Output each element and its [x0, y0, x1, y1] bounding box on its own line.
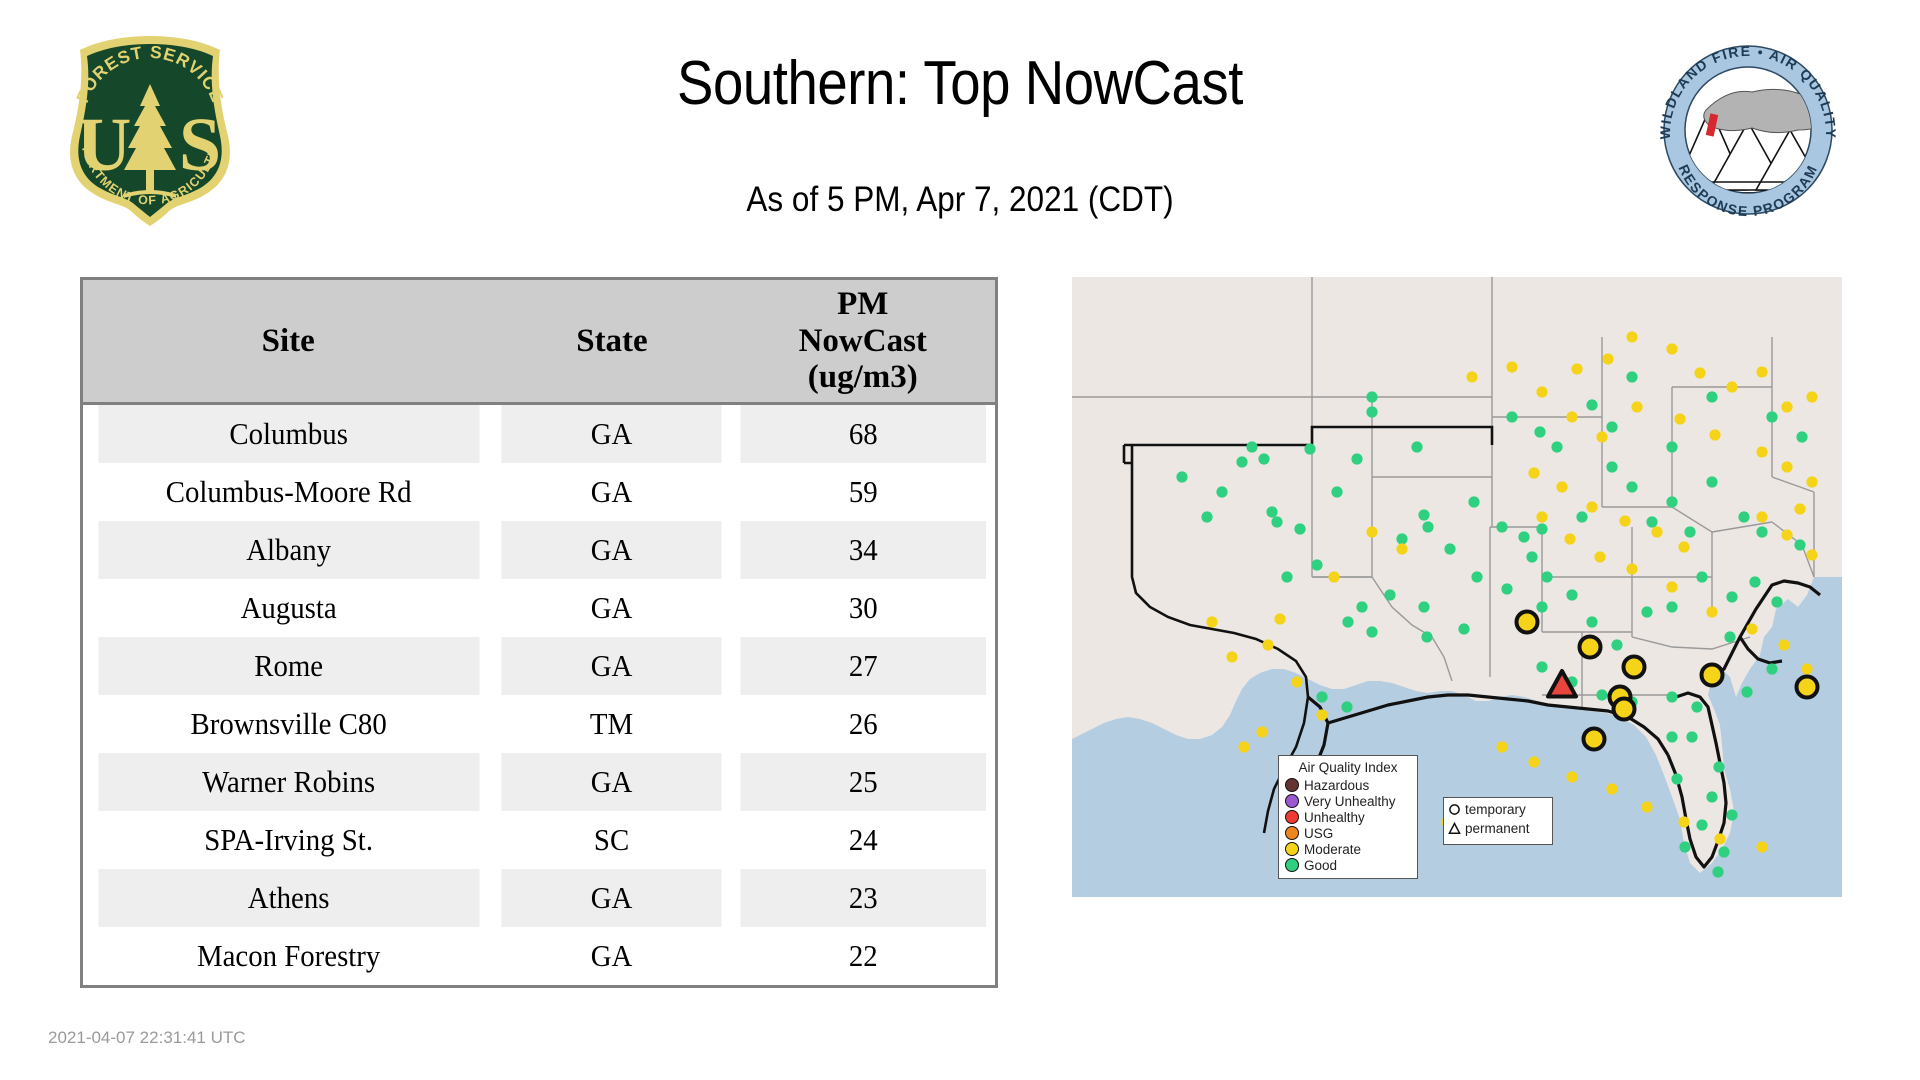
map-marker-dot [1666, 731, 1677, 742]
map-marker-dot [1766, 663, 1777, 674]
cell-site: Augusta [96, 579, 479, 637]
map-marker-dot [1706, 476, 1717, 487]
table-row: Macon ForestryGA22 [82, 927, 997, 987]
map-marker-dot [1291, 676, 1302, 687]
legend-row-temporary: temporary [1448, 800, 1548, 819]
legend-swatch-icon [1285, 842, 1299, 856]
map-marker-dot [1422, 521, 1433, 532]
map-marker-dot [1266, 506, 1277, 517]
map-marker-dot [1384, 589, 1395, 600]
map-marker-dot [1694, 367, 1705, 378]
legend-label: Unhealthy [1304, 810, 1365, 825]
cell-site: Macon Forestry [96, 927, 479, 987]
map-marker-dot [1496, 741, 1507, 752]
map-marker-dot [1536, 511, 1547, 522]
map-marker-dot [1506, 361, 1517, 372]
map-marker-dot [1216, 486, 1227, 497]
map-marker-dot [1781, 461, 1792, 472]
map-marker-dot [1256, 726, 1267, 737]
map-marker-dot [1713, 761, 1724, 772]
map-marker-highlighted[interactable] [1584, 729, 1605, 750]
map-marker-dot [1466, 371, 1477, 382]
map-marker-dot [1724, 631, 1735, 642]
map-marker-dot [1556, 481, 1567, 492]
legend-swatch-icon [1285, 858, 1299, 872]
map-marker-dot [1686, 731, 1697, 742]
map-marker-dot [1342, 616, 1353, 627]
map-marker-dot [1641, 801, 1652, 812]
map-marker-dot [1746, 623, 1757, 634]
legend-row-permanent: permanent [1448, 819, 1548, 838]
map-marker-dot [1781, 401, 1792, 412]
map-marker-dot [1696, 819, 1707, 830]
map-marker-highlighted[interactable] [1580, 637, 1601, 658]
map-marker-dot [1666, 343, 1677, 354]
cell-state: GA [502, 753, 723, 811]
map-marker-dot [1606, 421, 1617, 432]
legend-label: Very Unhealthy [1304, 794, 1396, 809]
table-row: Brownsville C80TM26 [82, 695, 997, 753]
map-marker-dot [1316, 691, 1327, 702]
map-marker-dot [1674, 413, 1685, 424]
legend-label-temporary: temporary [1465, 802, 1526, 817]
map-marker-dot [1281, 571, 1292, 582]
legend-row-very-unhealthy: Very Unhealthy [1285, 793, 1411, 809]
map-marker-dot [1418, 601, 1429, 612]
column-header-line-1: PM [837, 286, 888, 322]
map-marker-dot [1551, 441, 1562, 452]
map-marker-dot [1328, 571, 1339, 582]
legend-row-unhealthy: Unhealthy [1285, 809, 1411, 825]
map-marker-highlighted[interactable] [1517, 612, 1538, 633]
table-row: Columbus-Moore RdGA59 [82, 463, 997, 521]
map-marker-dot [1631, 401, 1642, 412]
map-marker-dot [1666, 691, 1677, 702]
map-marker-dot [1418, 509, 1429, 520]
map-marker-dot [1458, 623, 1469, 634]
map-marker-dot [1596, 431, 1607, 442]
map-marker-dot [1586, 399, 1597, 410]
map-marker-dot [1206, 616, 1217, 627]
cell-pm-nowcast: 26 [740, 695, 987, 753]
marker-type-legend: temporary permanent [1443, 797, 1553, 845]
map-marker-dot [1678, 816, 1689, 827]
map-marker-dot [1351, 453, 1362, 464]
top-nowcast-table: Site State PM NowCast (ug/m3) ColumbusGA… [80, 277, 998, 988]
cell-site: Warner Robins [96, 753, 479, 811]
legend-title: Air Quality Index [1285, 760, 1411, 775]
map-marker-dot [1666, 441, 1677, 452]
cell-pm-nowcast: 59 [740, 463, 987, 521]
map-marker-dot [1709, 429, 1720, 440]
cell-state: TM [502, 695, 723, 753]
map-marker-dot [1666, 581, 1677, 592]
map-marker-dot [1501, 583, 1512, 594]
map-marker-dot [1606, 461, 1617, 472]
table-row: AlbanyGA34 [82, 521, 997, 579]
map-marker-dot [1506, 411, 1517, 422]
map-marker-dot [1176, 471, 1187, 482]
map-marker-dot [1541, 571, 1552, 582]
map-marker-dot [1331, 486, 1342, 497]
map-marker-dot [1696, 571, 1707, 582]
map-marker-dot [1528, 467, 1539, 478]
map-marker-dot [1341, 701, 1352, 712]
cell-pm-nowcast: 22 [740, 927, 987, 987]
cell-state: GA [502, 463, 723, 521]
map-marker-highlighted[interactable] [1614, 699, 1635, 720]
map-marker-dot [1726, 809, 1737, 820]
footer-timestamp: 2021-04-07 22:31:41 UTC [48, 1028, 246, 1048]
map-marker-dot [1756, 366, 1767, 377]
legend-label: Moderate [1304, 842, 1361, 857]
map-marker-dot [1646, 516, 1657, 527]
legend-label-permanent: permanent [1465, 821, 1530, 836]
cell-pm-nowcast: 24 [740, 811, 987, 869]
cell-state: GA [502, 404, 723, 464]
map-marker-dot [1712, 866, 1723, 877]
map-marker-dot [1678, 541, 1689, 552]
table-body: ColumbusGA68Columbus-Moore RdGA59AlbanyG… [82, 404, 997, 987]
map-marker-dot [1806, 549, 1817, 560]
cell-state: GA [502, 521, 723, 579]
map-marker-dot [1766, 411, 1777, 422]
legend-row-hazardous: Hazardous [1285, 777, 1411, 793]
map-marker-dot [1626, 331, 1637, 342]
map-marker-dot [1706, 791, 1717, 802]
map-marker-dot [1606, 783, 1617, 794]
map-marker-dot [1749, 576, 1760, 587]
map-marker-dot [1396, 533, 1407, 544]
map-marker-dot [1366, 406, 1377, 417]
map-marker-dot [1679, 841, 1690, 852]
legend-swatch-icon [1285, 778, 1299, 792]
map-marker-dot [1258, 453, 1269, 464]
map-marker-dot [1666, 601, 1677, 612]
map-marker-dot [1666, 496, 1677, 507]
map-marker-dot [1726, 591, 1737, 602]
map-marker-dot [1536, 601, 1547, 612]
map-marker-dot [1586, 501, 1597, 512]
map-marker-dot [1641, 606, 1652, 617]
map-marker-dot [1496, 521, 1507, 532]
map-marker-dot [1226, 651, 1237, 662]
legend-row-usg: USG [1285, 825, 1411, 841]
map-marker-dot [1566, 771, 1577, 782]
map-marker-dot [1684, 526, 1695, 537]
table-row: ColumbusGA68 [82, 404, 997, 464]
map-marker-dot [1536, 386, 1547, 397]
map-marker-dot [1756, 526, 1767, 537]
cell-site: SPA-Irving St. [96, 811, 479, 869]
page-subtitle: As of 5 PM, Apr 7, 2021 (CDT) [96, 180, 1824, 220]
table-row: RomeGA27 [82, 637, 997, 695]
cell-site: Athens [96, 869, 479, 927]
map-marker-dot [1626, 371, 1637, 382]
map-marker-dot [1238, 741, 1249, 752]
table-row: AthensGA23 [82, 869, 997, 927]
cell-site: Brownsville C80 [96, 695, 479, 753]
map-marker-dot [1471, 571, 1482, 582]
map-marker-dot [1741, 686, 1752, 697]
legend-label: Good [1304, 858, 1337, 873]
map-marker-highlighted[interactable] [1702, 665, 1723, 686]
map-marker-dot [1801, 663, 1812, 674]
map-marker-dot [1626, 563, 1637, 574]
column-header-site: Site [82, 279, 494, 404]
map-marker-dot [1602, 353, 1613, 364]
cell-pm-nowcast: 23 [740, 869, 987, 927]
cell-state: SC [502, 811, 723, 869]
map-marker-dot [1411, 441, 1422, 452]
map-marker-dot [1311, 559, 1322, 570]
cell-state: GA [502, 869, 723, 927]
map-marker-dot [1594, 551, 1605, 562]
map-marker-dot [1236, 456, 1247, 467]
map-marker-dot [1316, 709, 1327, 720]
cell-pm-nowcast: 68 [740, 404, 987, 464]
map-marker-dot [1756, 511, 1767, 522]
map-marker-dot [1304, 443, 1315, 454]
map-marker-dot [1778, 639, 1789, 650]
cell-pm-nowcast: 27 [740, 637, 987, 695]
map-marker-dot [1718, 846, 1729, 857]
map-marker-dot [1596, 689, 1607, 700]
map-marker-dot [1756, 841, 1767, 852]
table-row: SPA-Irving St.SC24 [82, 811, 997, 869]
cell-site: Rome [96, 637, 479, 695]
map-marker-dot [1566, 411, 1577, 422]
map-marker-dot [1714, 833, 1725, 844]
map-marker-dot [1571, 363, 1582, 374]
map-marker-dot [1726, 381, 1737, 392]
map-marker-dot [1421, 631, 1432, 642]
map-marker-dot [1518, 531, 1529, 542]
map-marker-dot [1526, 551, 1537, 562]
map-marker-dot [1806, 476, 1817, 487]
cell-state: GA [502, 579, 723, 637]
map-marker-dot [1756, 446, 1767, 457]
map-marker-dot [1201, 511, 1212, 522]
map-marker-dot [1536, 523, 1547, 534]
map-marker-dot [1468, 496, 1479, 507]
map-marker-dot [1671, 773, 1682, 784]
map-marker-dot [1771, 596, 1782, 607]
table-row: AugustaGA30 [82, 579, 997, 637]
temporary-circle-icon [1448, 802, 1461, 817]
column-header-line-2: NowCast [799, 323, 927, 359]
legend-label: USG [1304, 826, 1333, 841]
map-marker-dot [1534, 426, 1545, 437]
legend-row-good: Good [1285, 857, 1411, 873]
cell-pm-nowcast: 34 [740, 521, 987, 579]
map-marker-dot [1444, 543, 1455, 554]
map-marker-highlighted[interactable] [1797, 677, 1818, 698]
map-marker-dot [1294, 523, 1305, 534]
map-marker-dot [1366, 526, 1377, 537]
map-marker-dot [1611, 639, 1622, 650]
map-marker-dot [1619, 515, 1630, 526]
map-marker-dot [1271, 516, 1282, 527]
column-header-pm-nowcast: PM NowCast (ug/m3) [731, 279, 997, 404]
column-header-state: State [493, 279, 730, 404]
map-marker-highlighted[interactable] [1624, 657, 1645, 678]
map-marker-dot [1586, 616, 1597, 627]
map-marker-dot [1246, 441, 1257, 452]
table-row: Warner RobinsGA25 [82, 753, 997, 811]
legend-row-moderate: Moderate [1285, 841, 1411, 857]
table-header-row: Site State PM NowCast (ug/m3) [82, 279, 997, 404]
permanent-triangle-icon [1448, 821, 1461, 836]
legend-swatch-icon [1285, 794, 1299, 808]
map-marker-dot [1274, 613, 1285, 624]
map-marker-dot [1262, 639, 1273, 650]
cell-site: Columbus [96, 404, 479, 464]
map-marker-dot [1691, 701, 1702, 712]
map-marker-dot [1536, 661, 1547, 672]
table-header: Site State PM NowCast (ug/m3) [82, 279, 997, 404]
legend-swatch-icon [1285, 826, 1299, 840]
column-header-line-3: (ug/m3) [808, 359, 918, 395]
map-marker-dot [1794, 539, 1805, 550]
map-marker-dot [1794, 503, 1805, 514]
map-marker-dot [1576, 511, 1587, 522]
cell-site: Albany [96, 521, 479, 579]
map-marker-dot [1806, 391, 1817, 402]
map-marker-dot [1396, 543, 1407, 554]
map-marker-dot [1366, 391, 1377, 402]
map-marker-dot [1528, 756, 1539, 767]
cell-pm-nowcast: 25 [740, 753, 987, 811]
cell-site: Columbus-Moore Rd [96, 463, 479, 521]
map-marker-dot [1626, 481, 1637, 492]
air-quality-index-legend: Air Quality Index HazardousVery Unhealth… [1278, 755, 1418, 879]
map-marker-dot [1796, 431, 1807, 442]
map-marker-dot [1566, 589, 1577, 600]
page-title: Southern: Top NowCast [115, 48, 1805, 119]
map-marker-dot [1706, 606, 1717, 617]
map-marker-dot [1651, 526, 1662, 537]
map-marker-dot [1738, 511, 1749, 522]
cell-state: GA [502, 927, 723, 987]
map-marker-dot [1564, 533, 1575, 544]
cell-state: GA [502, 637, 723, 695]
map-marker-dot [1366, 626, 1377, 637]
map-marker-dot [1706, 391, 1717, 402]
legend-label: Hazardous [1304, 778, 1369, 793]
cell-pm-nowcast: 30 [740, 579, 987, 637]
legend-swatch-icon [1285, 810, 1299, 824]
map-marker-dot [1781, 529, 1792, 540]
map-marker-dot [1356, 601, 1367, 612]
